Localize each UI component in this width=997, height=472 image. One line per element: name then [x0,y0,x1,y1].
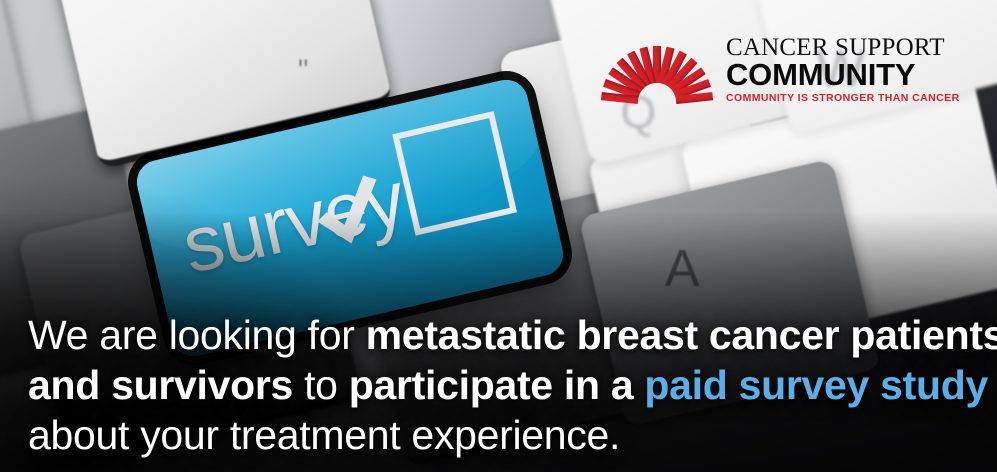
key-glyph-quote: " [298,56,310,86]
logo-line-community: COMMUNITY [726,59,960,90]
survey-recruitment-banner: A Q W " survey [0,0,997,472]
sunburst-rays-icon [598,44,716,104]
logo-wordmark: CANCER SUPPORT COMMUNITY COMMUNITY IS ST… [726,36,960,105]
headline-seg-1b: metastatic breast cancer patients [366,312,997,358]
headline-line-1: We are looking for metastatic breast can… [28,310,978,360]
headline-seg-2d: paid survey study [644,362,988,408]
headline-line-3: about your treatment experience. [28,410,978,460]
cancer-support-community-logo[interactable]: CANCER SUPPORT COMMUNITY COMMUNITY IS ST… [598,38,928,104]
headline-seg-1a: We are looking for [28,312,366,358]
headline: We are looking for metastatic breast can… [28,310,978,460]
headline-seg-3a: about your treatment experience. [28,412,620,458]
logo-line-cancer-support: CANCER SUPPORT [726,36,960,60]
headline-seg-2c: participate in a [349,362,645,408]
checkbox-outline [392,111,517,236]
logo-tagline: COMMUNITY IS STRONGER THAN CANCER [726,93,960,104]
headline-line-2: and survivors to participate in a paid s… [28,360,978,410]
key-glyph-a: A [665,239,701,299]
headline-seg-2a: and survivors [28,362,293,408]
headline-seg-2b: to [293,362,349,408]
